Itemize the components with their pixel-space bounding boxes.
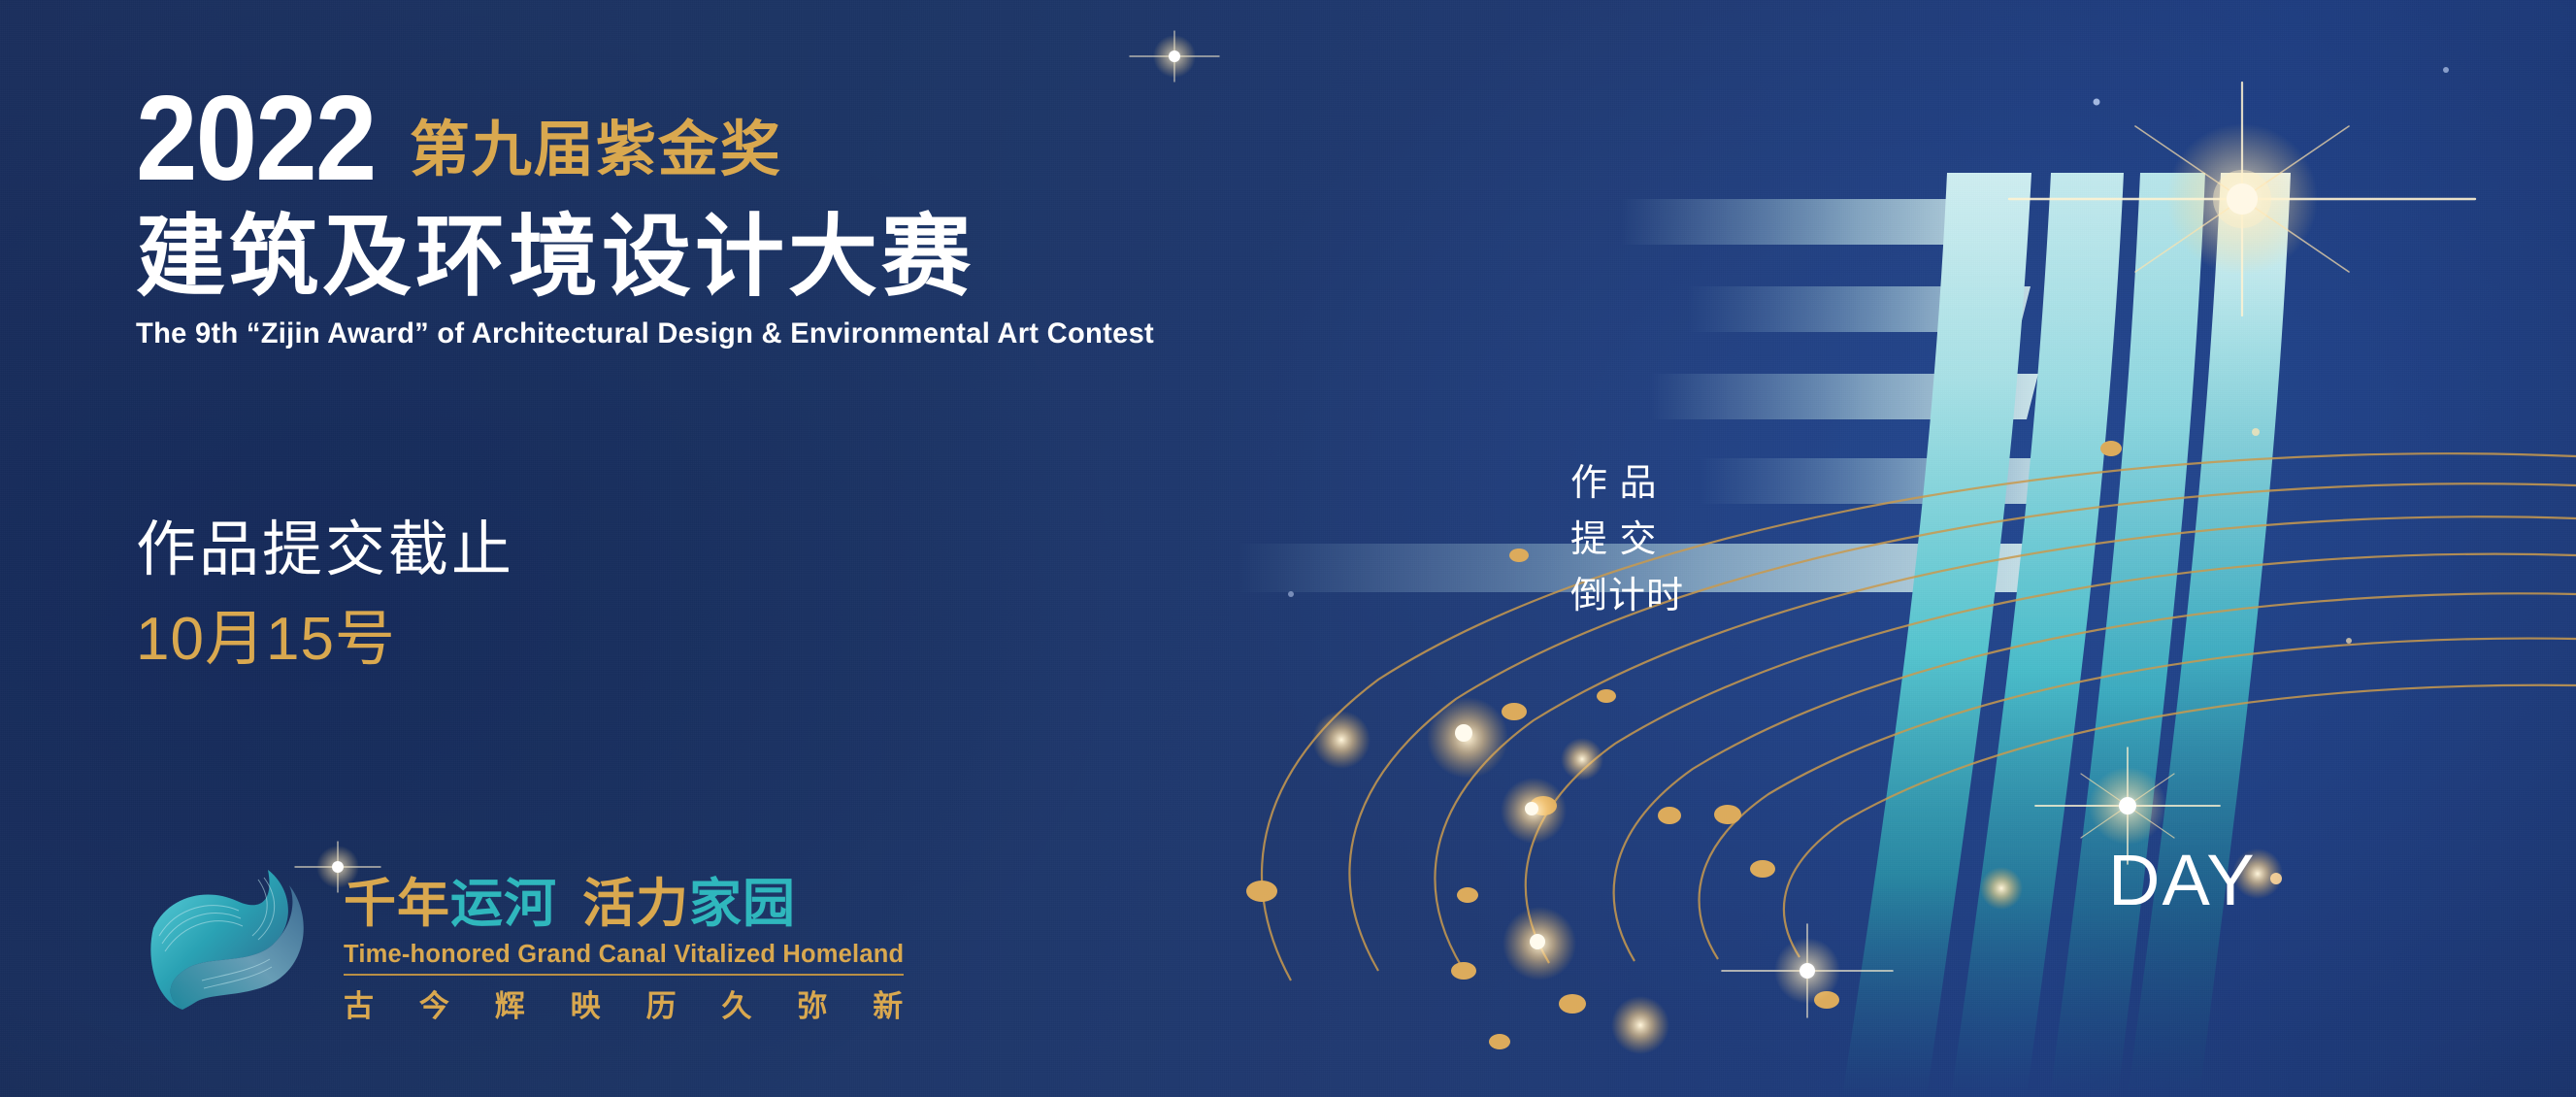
orbit-glow — [1611, 996, 1669, 1054]
logo-text-block: 千年 运河 活力 家园 Time-honored Grand Canal Vit… — [344, 854, 904, 1025]
deadline-label: 作品提交截止 — [136, 513, 514, 588]
starburst — [1722, 924, 1893, 1017]
motto-char: 久 — [721, 981, 752, 1025]
motto-char: 今 — [419, 981, 450, 1025]
orbit-dot — [1750, 860, 1775, 878]
title-row: 2022 第九届紫金奖 — [136, 83, 1185, 194]
star-speck — [2346, 638, 2352, 644]
orbit-dot — [2100, 441, 2122, 456]
logo-cn-row: 千年 运河 活力 家园 — [344, 860, 904, 937]
orbit-glow — [1312, 711, 1371, 769]
star-speck — [2252, 428, 2260, 436]
orbit-glow — [1530, 934, 1545, 949]
grand-canal-ribbon-logo-icon — [144, 852, 318, 1027]
logo-en-tagline: Time-honored Grand Canal Vitalized Homel… — [344, 941, 904, 969]
countdown-line-2: 提 交 — [1570, 513, 1689, 569]
logo-motto: 古 今 辉 映 历 久 弥 新 — [344, 981, 904, 1025]
orbit-dot — [1502, 703, 1527, 720]
orbit-dot — [1246, 881, 1277, 902]
page-title: 建筑及环境设计大赛 — [136, 210, 1185, 306]
orbit-glow — [1525, 802, 1538, 815]
motto-char: 历 — [646, 981, 677, 1025]
orbit-dot — [1597, 689, 1616, 703]
countdown-label-block: 作 品 提 交 倒计时 — [1570, 456, 1689, 624]
countdown-line-1: 作 品 — [1570, 456, 1689, 513]
orbit-glow — [1455, 724, 1472, 742]
countdown-line-3: 倒计时 — [1570, 569, 1689, 625]
deadline-date: 10月15号 — [136, 604, 514, 676]
year-label: 2022 — [136, 83, 375, 194]
orbit-glow — [1980, 867, 2023, 910]
header-text-block: 2022 第九届紫金奖 建筑及环境设计大赛 The 9th “Zijin Awa… — [136, 83, 1185, 350]
starburst — [2009, 83, 2475, 316]
star-speck — [2094, 99, 2100, 106]
motto-char: 古 — [344, 981, 375, 1025]
deadline-block: 作品提交截止 10月15号 — [136, 513, 514, 676]
motto-char: 弥 — [797, 981, 828, 1025]
logo-cn-part2: 运河 — [450, 860, 557, 937]
orbit-dot — [1658, 807, 1681, 824]
star-speck — [1288, 591, 1294, 597]
star-speck — [2270, 873, 2282, 884]
orbit-dot — [1457, 887, 1478, 903]
orbit-glow — [1561, 738, 1603, 781]
orbit-dot — [1509, 548, 1529, 562]
starburst — [1130, 31, 1219, 82]
orbit-arc — [1614, 593, 2576, 961]
motto-char: 新 — [873, 981, 904, 1025]
edition-label: 第九届紫金奖 — [410, 120, 782, 194]
orbit-dot — [1451, 962, 1476, 980]
motto-char: 辉 — [495, 981, 526, 1025]
logo-cn-part1: 千年 — [344, 860, 450, 937]
banner-root: 2022 第九届紫金奖 建筑及环境设计大赛 The 9th “Zijin Awa… — [0, 0, 2576, 1097]
motto-char: 映 — [571, 981, 602, 1025]
page-subtitle: The 9th “Zijin Award” of Architectural D… — [136, 317, 1154, 350]
countdown-unit-label: DAY — [2108, 839, 2257, 921]
logo-lockup: 千年 运河 活力 家园 Time-honored Grand Canal Vit… — [144, 852, 904, 1027]
logo-cn-part3: 活力 — [582, 860, 689, 937]
orbit-dot — [1714, 805, 1741, 824]
orbit-dot — [1559, 994, 1586, 1014]
star-speck — [2443, 67, 2449, 73]
orbit-dot — [1489, 1034, 1510, 1049]
logo-cn-part4: 家园 — [689, 860, 796, 937]
logo-divider — [344, 974, 904, 976]
